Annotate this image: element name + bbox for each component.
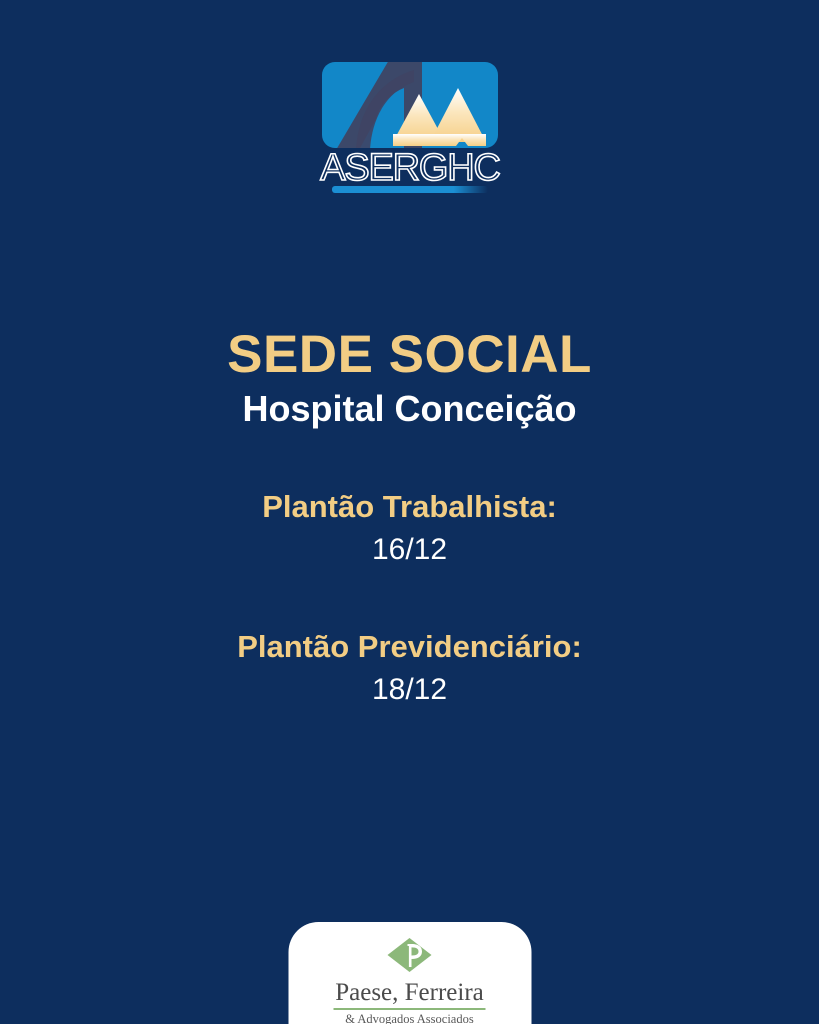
announcement-poster: ASERGHC SEDE SOCIAL Hospital Conceição P… [0,0,819,1024]
law-firm-tagline: & Advogados Associados [288,1013,531,1024]
schedule-date: 18/12 [0,674,819,706]
law-firm-name: Paese, Ferreira [333,980,486,1010]
logo-wordmark: ASERGHC [320,147,500,189]
page-title: SEDE SOCIAL [0,327,819,382]
schedule-date: 16/12 [0,534,819,566]
headline-block: SEDE SOCIAL Hospital Conceição [0,327,819,428]
aserghc-logo: ASERGHC [318,58,502,198]
law-firm-card: Paese, Ferreira & Advogados Associados [288,922,531,1024]
logo-mountain-base [393,134,486,146]
schedule-entry: Plantão Trabalhista: 16/12 [0,490,819,566]
logo-underbar [332,186,488,193]
paese-ferreira-emblem-icon [387,937,433,973]
schedule-block: Plantão Trabalhista: 16/12 Plantão Previ… [0,490,819,706]
schedule-entry: Plantão Previdenciário: 18/12 [0,630,819,706]
schedule-label: Plantão Previdenciário: [0,630,819,665]
schedule-label: Plantão Trabalhista: [0,490,819,525]
page-subtitle: Hospital Conceição [0,390,819,428]
